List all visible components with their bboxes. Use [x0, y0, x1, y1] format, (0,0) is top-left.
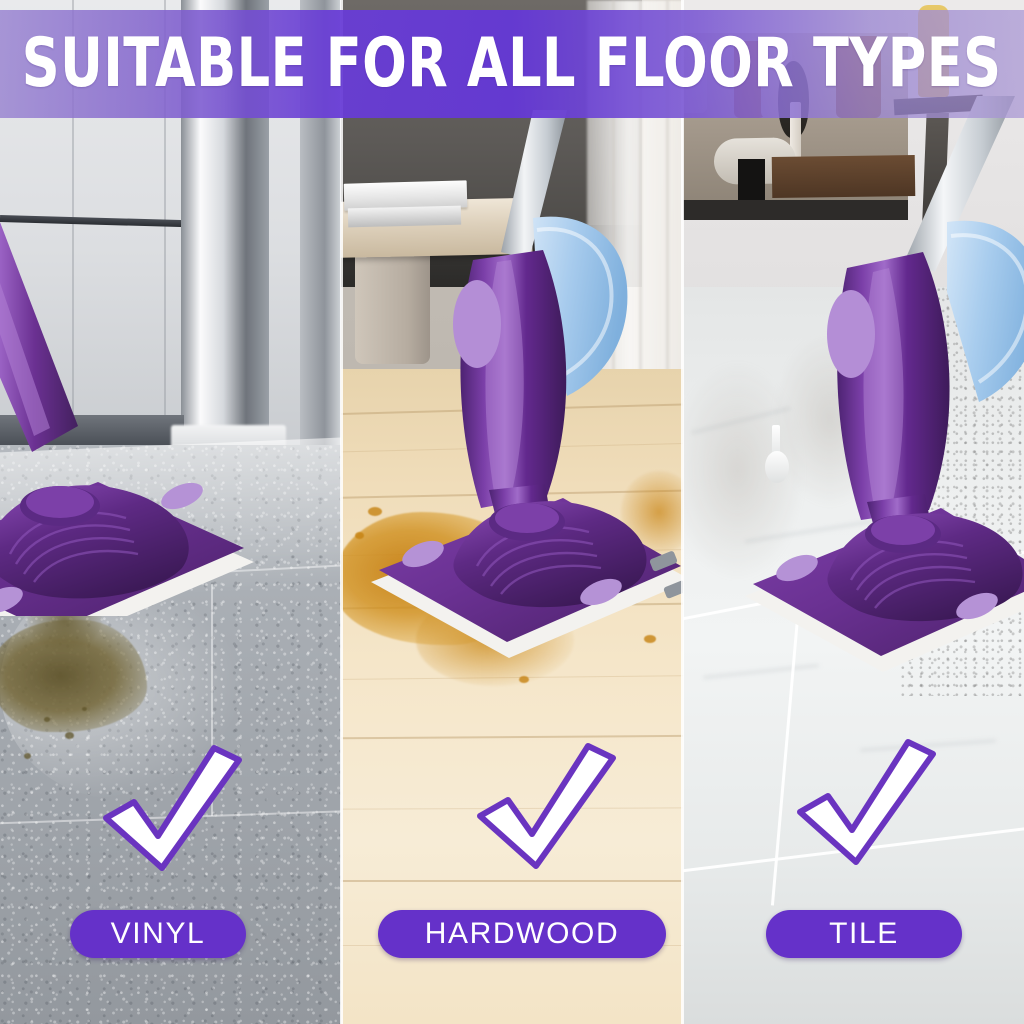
label-pill-vinyl: VINYL — [70, 910, 246, 958]
spray-mop-hardwood — [361, 110, 683, 670]
plank-seam — [341, 880, 683, 882]
check-mark-icon-tile — [790, 736, 940, 868]
page-title: SUITABLE FOR ALL FLOOR TYPES — [22, 30, 1002, 98]
label-pill-hardwood-text: HARDWOOD — [425, 917, 619, 951]
label-pill-tile: TILE — [766, 910, 962, 958]
label-pill-vinyl-text: VINYL — [111, 917, 206, 951]
check-mark-icon-vinyl — [96, 742, 246, 874]
spray-mop-tile — [739, 96, 1024, 676]
water-droplet — [65, 732, 74, 739]
spray-mop-vinyl — [0, 196, 262, 616]
water-droplet — [24, 753, 31, 759]
label-pill-tile-text: TILE — [829, 917, 899, 951]
headline-banner: SUITABLE FOR ALL FLOOR TYPES — [0, 10, 1024, 118]
product-feature-image: SUITABLE FOR ALL FLOOR TYPES VINYL HARDW… — [0, 0, 1024, 1024]
plank-seam — [341, 734, 683, 739]
panel-tile — [683, 0, 1024, 1024]
water-droplet — [82, 707, 87, 711]
check-mark-icon-hardwood — [470, 740, 620, 872]
spill-droplet — [519, 676, 529, 683]
label-pill-hardwood: HARDWOOD — [378, 910, 666, 958]
